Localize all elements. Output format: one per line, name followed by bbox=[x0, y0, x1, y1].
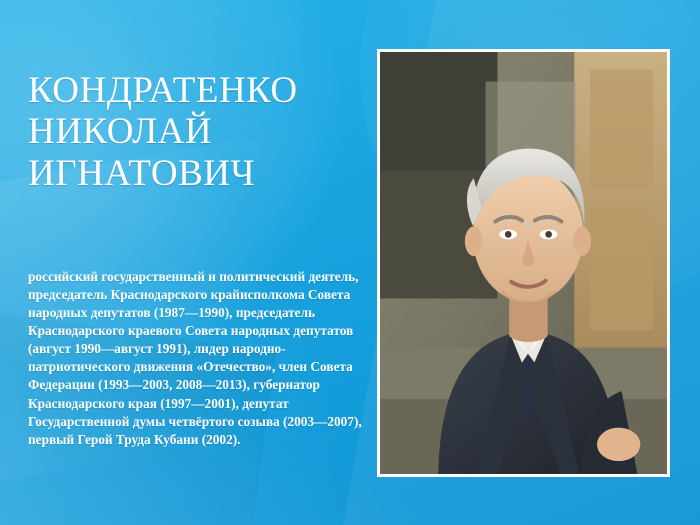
slide-body-text: российский государственный и политически… bbox=[28, 268, 368, 449]
slide-title: КОНДРАТЕНКО НИКОЛАЙ ИГНАТОВИЧ bbox=[28, 70, 358, 194]
slide: КОНДРАТЕНКО НИКОЛАЙ ИГНАТОВИЧ российский… bbox=[0, 0, 700, 525]
portrait-image bbox=[380, 52, 667, 474]
portrait-photo bbox=[377, 49, 670, 477]
